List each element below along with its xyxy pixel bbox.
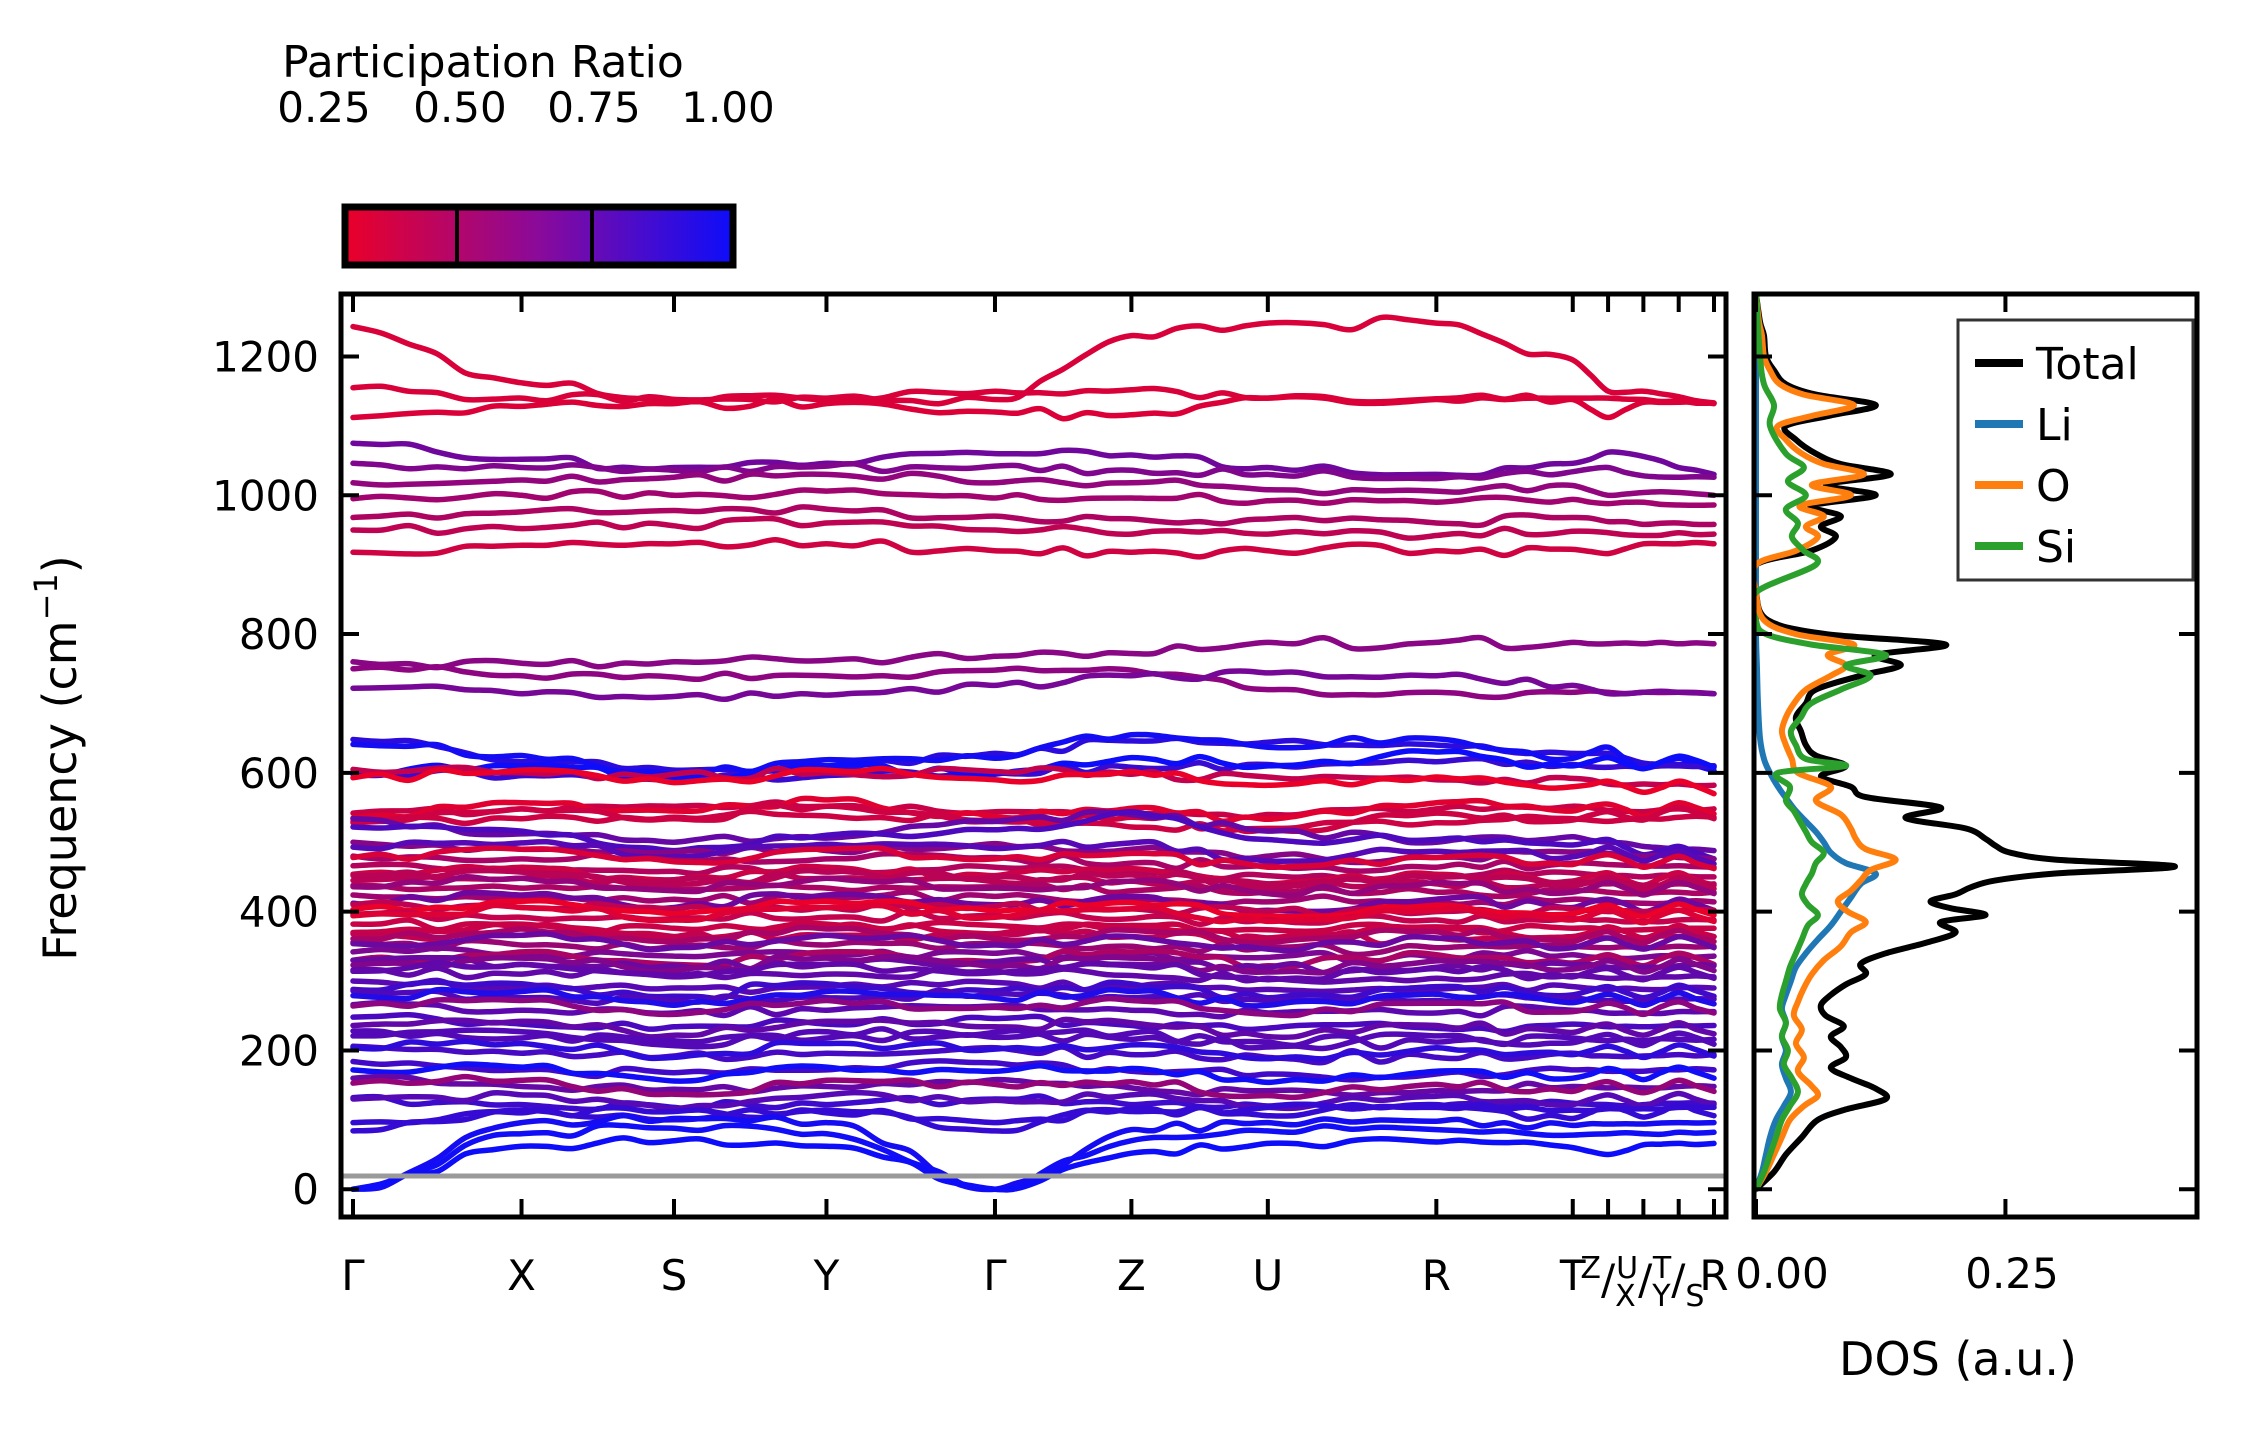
bands-x-ticklabel-7: R xyxy=(1422,1251,1451,1300)
bands-y-ticklabel: 0 xyxy=(292,1165,319,1214)
bands-x-ticklabel-6: U xyxy=(1252,1251,1283,1300)
bands-y-ticklabel: 1200 xyxy=(212,332,319,381)
bands-x-ticklabel-5: Z xyxy=(1117,1251,1146,1300)
legend-label-si: Si xyxy=(2036,522,2076,573)
bands-x-ticklabel-12: R xyxy=(1699,1251,1728,1300)
dos-legend: Total Li O Si xyxy=(1958,320,2193,580)
phonon-figure: Participation Ratio 0.25 0.50 0.75 1.00 … xyxy=(0,0,2259,1455)
legend-label-total: Total xyxy=(2035,339,2139,390)
bands-x-ticklabel-3: Y xyxy=(813,1251,840,1300)
colorbar-tick-0: 0.25 xyxy=(277,83,371,132)
bands-y-ticklabel: 400 xyxy=(239,888,319,937)
bands-x-ticklabel-4: Γ xyxy=(983,1251,1007,1300)
dos-xtick-1: 0.25 xyxy=(1965,1249,2059,1298)
bands-x-ticklabel-1: X xyxy=(507,1251,536,1300)
bands-x-ticklabel-2: S xyxy=(661,1251,688,1300)
bands-y-ticklabel: 1000 xyxy=(212,471,319,520)
bands-y-ticklabel: 600 xyxy=(239,749,319,798)
legend-label-o: O xyxy=(2036,461,2071,512)
colorbar-tick-2: 0.75 xyxy=(547,83,641,132)
bands-y-ticklabel: 200 xyxy=(239,1026,319,1075)
dos-xtick-0: 0.00 xyxy=(1735,1249,1829,1298)
legend-label-li: Li xyxy=(2036,400,2073,451)
colorbar-tick-1: 0.50 xyxy=(413,83,507,132)
dos-x-axis-label: DOS (a.u.) xyxy=(1839,1332,2077,1386)
bands-x-ticklabel-0: Γ xyxy=(341,1251,365,1300)
bands-y-ticklabel: 800 xyxy=(239,610,319,659)
colorbar-title: Participation Ratio xyxy=(282,37,684,88)
colorbar-tick-3: 1.00 xyxy=(681,83,775,132)
colorbar-gradient xyxy=(345,207,733,265)
